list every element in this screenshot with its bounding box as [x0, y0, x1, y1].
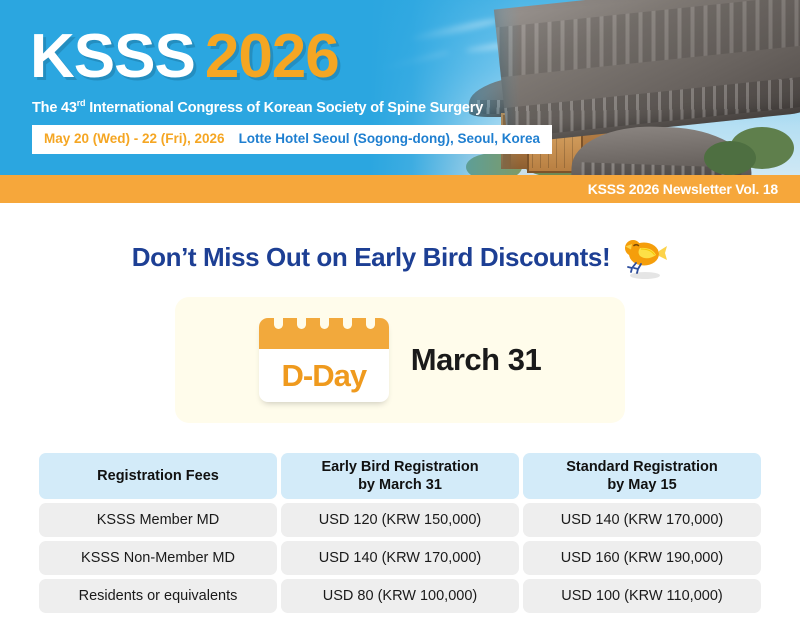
banner-text-block: KSSS2026 The 43rd International Congress… — [0, 0, 800, 154]
table-body: KSSS Member MD USD 120 (KRW 150,000) USD… — [39, 503, 761, 613]
cell-text: USD 160 (KRW 190,000) — [523, 541, 761, 575]
calendar-ring-notch — [297, 317, 306, 329]
dday-panel: D-Day March 31 — [175, 297, 625, 423]
cell-text: USD 100 (KRW 110,000) — [523, 579, 761, 613]
calendar-ring-notch — [343, 317, 352, 329]
calendar-dday-label: D-Day — [259, 349, 389, 402]
newsletter-strip: KSSS 2026 Newsletter Vol. 18 — [0, 175, 800, 203]
cell-early-bird: USD 80 (KRW 100,000) — [281, 579, 519, 613]
cell-category: Residents or equivalents — [39, 579, 277, 613]
header-line1: Early Bird Registration — [321, 458, 478, 476]
page-title: Don’t Miss Out on Early Bird Discounts! — [132, 242, 610, 273]
table-header-cell-early-bird: Early Bird Registration by March 31 — [281, 453, 519, 499]
subtitle-prefix: The 43 — [32, 100, 77, 116]
congress-logo: KSSS2026 — [30, 0, 800, 88]
newsletter-volume-label: KSSS 2026 Newsletter Vol. 18 — [588, 181, 778, 197]
table-row: KSSS Non-Member MD USD 140 (KRW 170,000)… — [39, 541, 761, 575]
logo-acronym: KSSS — [30, 22, 195, 91]
newsletter-body: Don’t Miss Out on Early Bird Discounts! — [0, 203, 800, 617]
cell-text: KSSS Member MD — [39, 503, 277, 537]
calendar-ring-notch — [274, 317, 283, 329]
cell-text: USD 120 (KRW 150,000) — [281, 503, 519, 537]
congress-subtitle: The 43rd International Congress of Korea… — [32, 98, 800, 116]
dday-date: March 31 — [411, 342, 541, 378]
header-line1: Standard Registration — [566, 458, 717, 476]
cell-early-bird: USD 140 (KRW 170,000) — [281, 541, 519, 575]
cell-category: KSSS Non-Member MD — [39, 541, 277, 575]
cell-text: Residents or equivalents — [39, 579, 277, 613]
header-line2: by May 15 — [607, 476, 676, 494]
table-header-cell-category: Registration Fees — [39, 453, 277, 499]
congress-venue: Lotte Hotel Seoul (Sogong-dong), Seoul, … — [239, 131, 540, 146]
table-row: Residents or equivalents USD 80 (KRW 100… — [39, 579, 761, 613]
logo-year: 2026 — [205, 22, 339, 91]
bird-icon — [622, 235, 668, 279]
congress-dates: May 20 (Wed) - 22 (Fri), 2026 — [44, 131, 225, 146]
bird-icon-svg — [622, 235, 668, 275]
subtitle-rest: International Congress of Korean Society… — [85, 100, 483, 116]
cell-early-bird: USD 120 (KRW 150,000) — [281, 503, 519, 537]
header-line2: by March 31 — [358, 476, 442, 494]
cell-text: KSSS Non-Member MD — [39, 541, 277, 575]
cell-text: USD 80 (KRW 100,000) — [281, 579, 519, 613]
headline-row: Don’t Miss Out on Early Bird Discounts! — [0, 203, 800, 279]
header-line1: Registration Fees — [97, 467, 219, 485]
calendar-ring-notch — [320, 317, 329, 329]
cell-standard: USD 140 (KRW 170,000) — [523, 503, 761, 537]
registration-fee-table: Registration Fees Early Bird Registratio… — [35, 449, 765, 617]
header-banner: KSSS2026 The 43rd International Congress… — [0, 0, 800, 175]
calendar-ring-notch — [366, 317, 375, 329]
bird-shadow — [630, 272, 660, 279]
table-header-row: Registration Fees Early Bird Registratio… — [39, 453, 761, 499]
table-row: KSSS Member MD USD 120 (KRW 150,000) USD… — [39, 503, 761, 537]
cell-standard: USD 100 (KRW 110,000) — [523, 579, 761, 613]
cell-text: USD 140 (KRW 170,000) — [281, 541, 519, 575]
cell-standard: USD 160 (KRW 190,000) — [523, 541, 761, 575]
cell-category: KSSS Member MD — [39, 503, 277, 537]
calendar-icon: D-Day — [259, 318, 389, 402]
cell-text: USD 140 (KRW 170,000) — [523, 503, 761, 537]
table-header: Registration Fees Early Bird Registratio… — [39, 453, 761, 499]
table-header-cell-standard: Standard Registration by May 15 — [523, 453, 761, 499]
date-venue-bar: May 20 (Wed) - 22 (Fri), 2026Lotte Hotel… — [32, 125, 552, 154]
